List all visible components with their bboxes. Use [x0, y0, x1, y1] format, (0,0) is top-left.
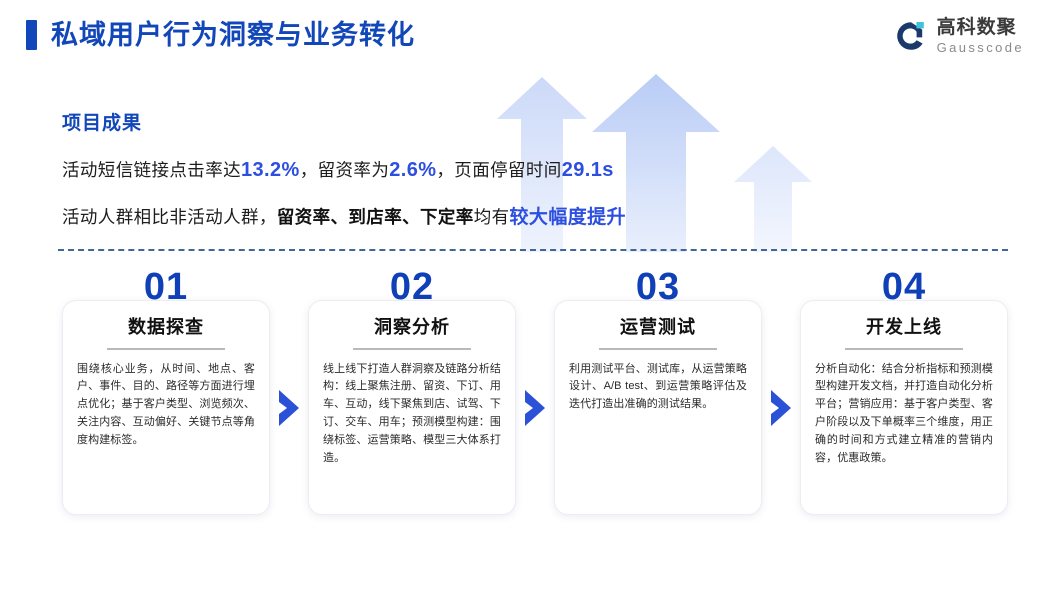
- step-title: 洞察分析: [323, 317, 501, 339]
- step-card-body[interactable]: 数据探查 围绕核心业务，从时间、地点、客户、事件、目的、路径等方面进行埋点优化；…: [62, 300, 270, 515]
- step-description: 线上线下打造人群洞察及链路分析结构：线上聚焦注册、留资、下订、用车、互动，线下聚…: [323, 361, 501, 468]
- results-heading: 项目成果: [62, 108, 626, 135]
- step-title-rule: [107, 348, 225, 350]
- step-card-04[interactable]: 04 开发上线 分析自动化：结合分析指标和预测模型构建开发文档，并打造自动化分析…: [800, 272, 1008, 515]
- results-line-2: 活动人群相比非活动人群，留资率、到店率、下定率均有较大幅度提升: [62, 202, 626, 229]
- page-header: 私域用户行为洞察与业务转化 高科数聚 Gausscode: [0, 0, 1048, 82]
- chevron-right-icon-3: [762, 300, 800, 515]
- results-line1-seg1: 活动短信链接点击率达: [62, 160, 241, 180]
- title-accent-bar: [26, 20, 37, 50]
- results-line1-seg2: ，留资率为: [300, 160, 390, 180]
- brand-logo: 高科数聚 Gausscode: [894, 18, 1024, 54]
- step-title: 数据探查: [77, 317, 255, 339]
- step-title: 开发上线: [815, 317, 993, 339]
- logo-name-cn: 高科数聚: [937, 18, 1024, 37]
- step-number: 03: [554, 268, 762, 306]
- logo-name-en: Gausscode: [937, 41, 1024, 54]
- step-number: 04: [800, 268, 1008, 306]
- step-number: 02: [308, 268, 516, 306]
- chevron-right-icon-2: [516, 300, 554, 515]
- step-title: 运营测试: [569, 317, 747, 339]
- page-title-group: 私域用户行为洞察与业务转化: [26, 20, 415, 50]
- step-card-body[interactable]: 运营测试 利用测试平台、测试库，从运营策略设计、A/B test、到运营策略评估…: [554, 300, 762, 515]
- stat-click-rate: 13.2%: [241, 159, 300, 181]
- step-description: 利用测试平台、测试库，从运营策略设计、A/B test、到运营策略评估及迭代打造…: [569, 361, 747, 414]
- step-description: 分析自动化：结合分析指标和预测模型构建开发文档，并打造自动化分析平台；营销应用：…: [815, 361, 993, 468]
- step-title-rule: [845, 348, 963, 350]
- step-card-03[interactable]: 03 运营测试 利用测试平台、测试库，从运营策略设计、A/B test、到运营策…: [554, 272, 762, 515]
- page-title: 私域用户行为洞察与业务转化: [51, 22, 415, 49]
- process-steps: 01 数据探查 围绕核心业务，从时间、地点、客户、事件、目的、路径等方面进行埋点…: [0, 272, 1048, 532]
- step-card-02[interactable]: 02 洞察分析 线上线下打造人群洞察及链路分析结构：线上聚焦注册、留资、下订、用…: [308, 272, 516, 515]
- results-line-1: 活动短信链接点击率达13.2%，留资率为2.6%，页面停留时间29.1s: [62, 157, 626, 182]
- results-line2-seg2: 均有: [474, 207, 510, 227]
- stat-dwell-time: 29.1s: [562, 159, 614, 181]
- stat-lead-rate: 2.6%: [389, 159, 436, 181]
- step-number: 01: [62, 268, 270, 306]
- results-line2-metrics: 留资率、到店率、下定率: [277, 207, 474, 227]
- logo-text: 高科数聚 Gausscode: [937, 18, 1024, 54]
- chevron-right-icon-1: [270, 300, 308, 515]
- step-title-rule: [353, 348, 471, 350]
- project-results-section: 项目成果 活动短信链接点击率达13.2%，留资率为2.6%，页面停留时间29.1…: [62, 108, 626, 249]
- step-card-body[interactable]: 洞察分析 线上线下打造人群洞察及链路分析结构：线上聚焦注册、留资、下订、用车、互…: [308, 300, 516, 515]
- step-title-rule: [599, 348, 717, 350]
- step-description: 围绕核心业务，从时间、地点、客户、事件、目的、路径等方面进行埋点优化；基于客户类…: [77, 361, 255, 450]
- logo-mark-icon: [894, 19, 928, 53]
- step-card-body[interactable]: 开发上线 分析自动化：结合分析指标和预测模型构建开发文档，并打造自动化分析平台；…: [800, 300, 1008, 515]
- results-line2-highlight: 较大幅度提升: [510, 207, 626, 228]
- results-line1-seg3: ，页面停留时间: [436, 160, 561, 180]
- step-card-01[interactable]: 01 数据探查 围绕核心业务，从时间、地点、客户、事件、目的、路径等方面进行埋点…: [62, 272, 270, 515]
- results-line2-seg1: 活动人群相比非活动人群，: [62, 207, 277, 227]
- section-divider: [58, 249, 1008, 251]
